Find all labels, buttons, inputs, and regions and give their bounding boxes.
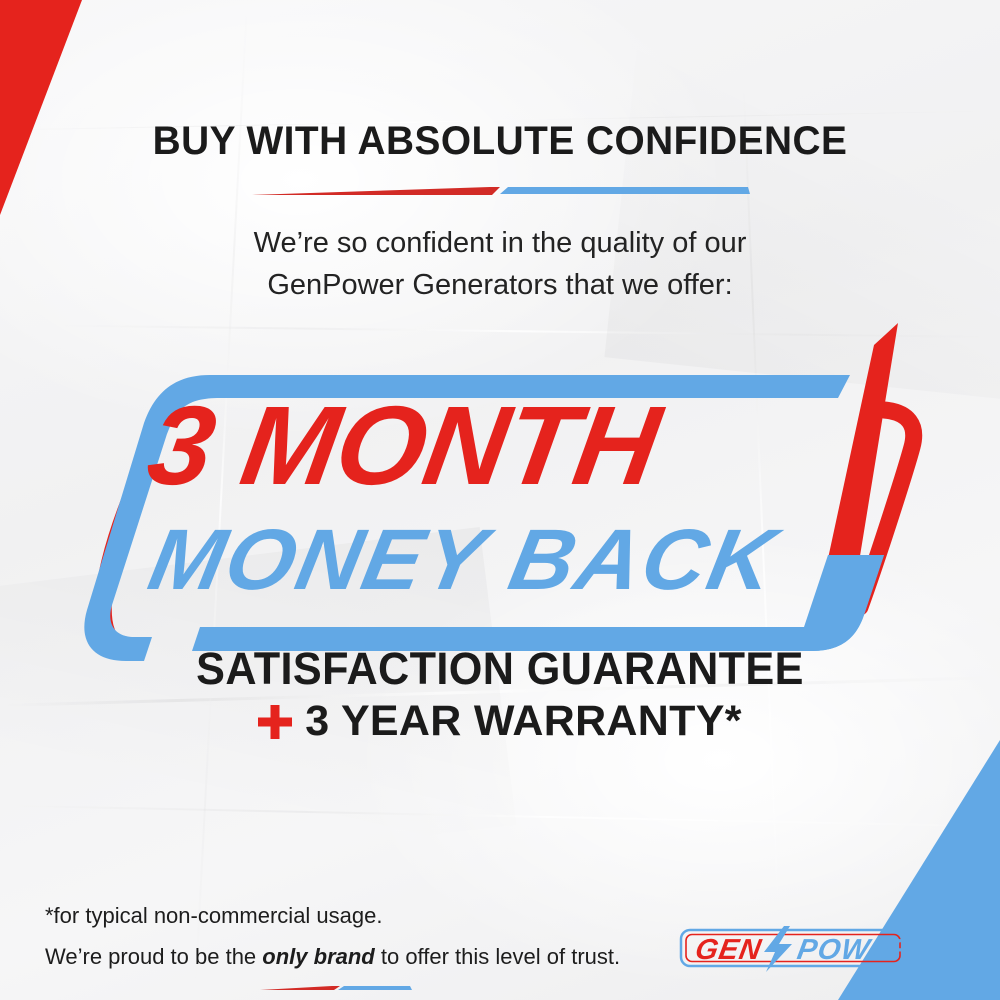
subheading-line-1: We’re so confident in the quality of our [0, 222, 1000, 264]
promo-poster: BUY WITH ABSOLUTE CONFIDENCE We’re so co… [0, 0, 1000, 1000]
money-back-badge: 3 MONTH MONEY BACK [60, 305, 960, 685]
satisfaction-guarantee-text: SATISFACTION GUARANTEE [20, 643, 980, 695]
claim-before: We’re proud to be the [45, 944, 262, 969]
svg-text:GEN: GEN [693, 934, 764, 966]
warranty-line: 3 YEAR WARRANTY* [0, 697, 1000, 746]
plus-icon [258, 705, 292, 739]
page-title: BUY WITH ABSOLUTE CONFIDENCE [15, 119, 985, 164]
warranty-text: 3 YEAR WARRANTY* [305, 697, 741, 746]
claim-emphasis-text: only brand [262, 944, 374, 969]
two-tone-divider [250, 183, 750, 202]
two-tone-underline [260, 972, 412, 998]
footnote-claim: We’re proud to be the only brand to offe… [45, 944, 620, 970]
subheading: We’re so confident in the quality of our… [0, 222, 1000, 306]
subheading-line-2: GenPower Generators that we offer: [0, 264, 1000, 306]
badge-headline-blue: MONEY BACK [143, 517, 784, 603]
badge-headline-red: 3 MONTH [141, 390, 666, 502]
claim-after: to offer this level of trust. [375, 944, 620, 969]
footnote-usage: *for typical non-commercial usage. [45, 903, 382, 929]
claim-emphasis: only brand [262, 944, 374, 969]
badge-text-block: 3 MONTH MONEY BACK [60, 305, 960, 685]
svg-text:POWER: POWER [795, 934, 908, 966]
red-corner-wedge [0, 0, 120, 215]
genpower-logo: GEN POWER [678, 925, 908, 978]
